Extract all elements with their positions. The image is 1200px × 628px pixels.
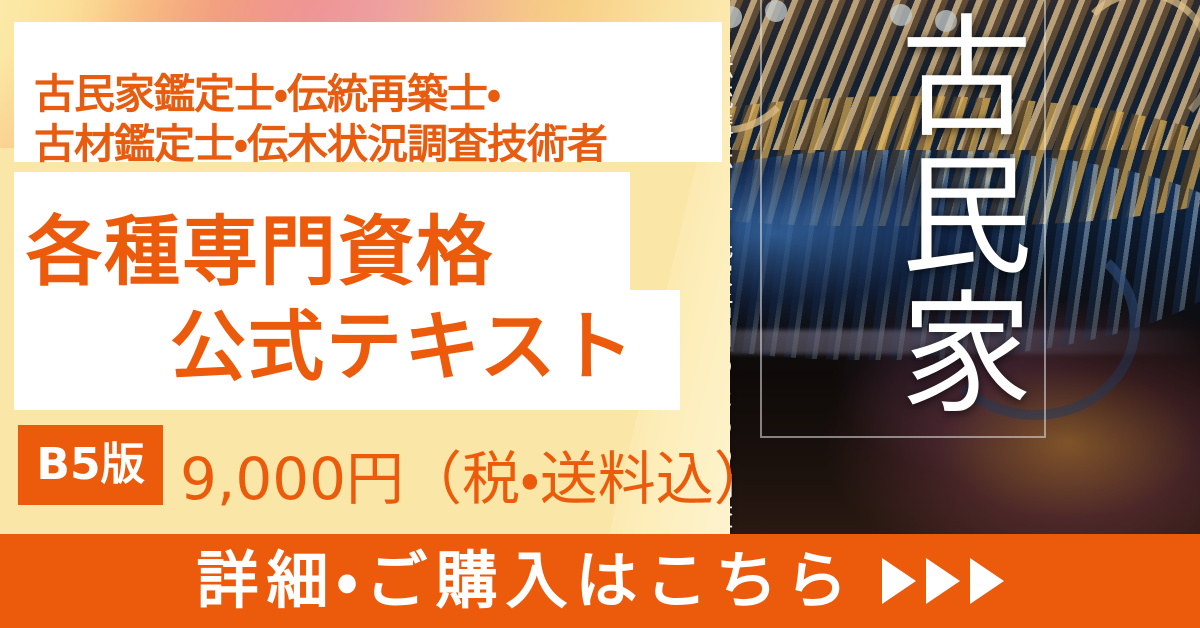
cta-label: 詳細・ご購入はこちら	[196, 550, 855, 612]
format-badge: B5版	[18, 425, 163, 505]
cta-button[interactable]: 詳細・ご購入はこちら	[0, 534, 1200, 628]
triangle-right-icon	[926, 558, 960, 604]
format-badge-label: B5版	[36, 443, 144, 487]
price-text: 9,000円（税・送料込）	[180, 432, 772, 516]
subhead-line-1: 各種専門資格	[26, 190, 494, 300]
headline-panel: 古民家鑑定士・伝統再築士・ 古材鑑定士・伝木状況調査技術者	[14, 22, 722, 162]
book-title: 古民家	[782, 8, 1022, 422]
headline-line-2: 古材鑑定士・伝木状況調査技術者	[34, 110, 607, 170]
triangle-right-icon	[882, 558, 916, 604]
promo-banner: 古民家 伝統構法 古民家活用のための調査と再生の 古民家鑑定士・伝統再築士・ 古…	[0, 0, 1200, 628]
triangle-right-icon	[970, 558, 1004, 604]
subhead-line-2: 公式テキスト	[170, 285, 636, 395]
cta-arrows	[882, 558, 1004, 604]
